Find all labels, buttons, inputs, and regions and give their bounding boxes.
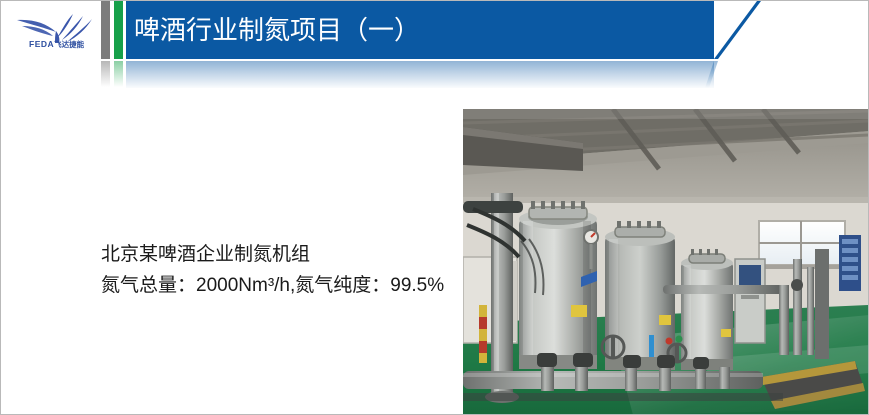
banner-green-bar-reflection [114, 61, 123, 87]
logo-chinese: 飞达捷能 [54, 40, 84, 49]
slide-canvas: FEDA飞达捷能 啤酒行业制氮项目（一） 北京某啤酒企业制氮机组 氮气总量：20… [0, 0, 869, 415]
banner-diagonal-slash [705, 1, 761, 59]
company-logo: FEDA飞达捷能 [13, 11, 99, 59]
banner-gray-bar [101, 1, 110, 59]
nitrogen-plant-photo [463, 109, 869, 415]
logo-wordmark: FEDA飞达捷能 [29, 39, 99, 50]
banner-reflection [126, 61, 714, 88]
caption-line-2: 氮气总量：2000Nm³/h,氮气纯度：99.5% [101, 270, 481, 301]
title-banner: 啤酒行业制氮项目（一） [101, 1, 761, 89]
caption-line-1: 北京某啤酒企业制氮机组 [101, 239, 481, 270]
photo-illustration [463, 109, 869, 415]
banner-slash-reflection [705, 61, 765, 88]
slide-title: 啤酒行业制氮项目（一） [134, 1, 420, 59]
banner-green-bar [114, 1, 123, 59]
logo-latin: FEDA [29, 39, 54, 49]
caption-block: 北京某啤酒企业制氮机组 氮气总量：2000Nm³/h,氮气纯度：99.5% [101, 239, 481, 301]
vessel-3 [681, 249, 733, 370]
vessel-2 [605, 221, 675, 370]
banner-gray-bar-reflection [101, 61, 110, 87]
